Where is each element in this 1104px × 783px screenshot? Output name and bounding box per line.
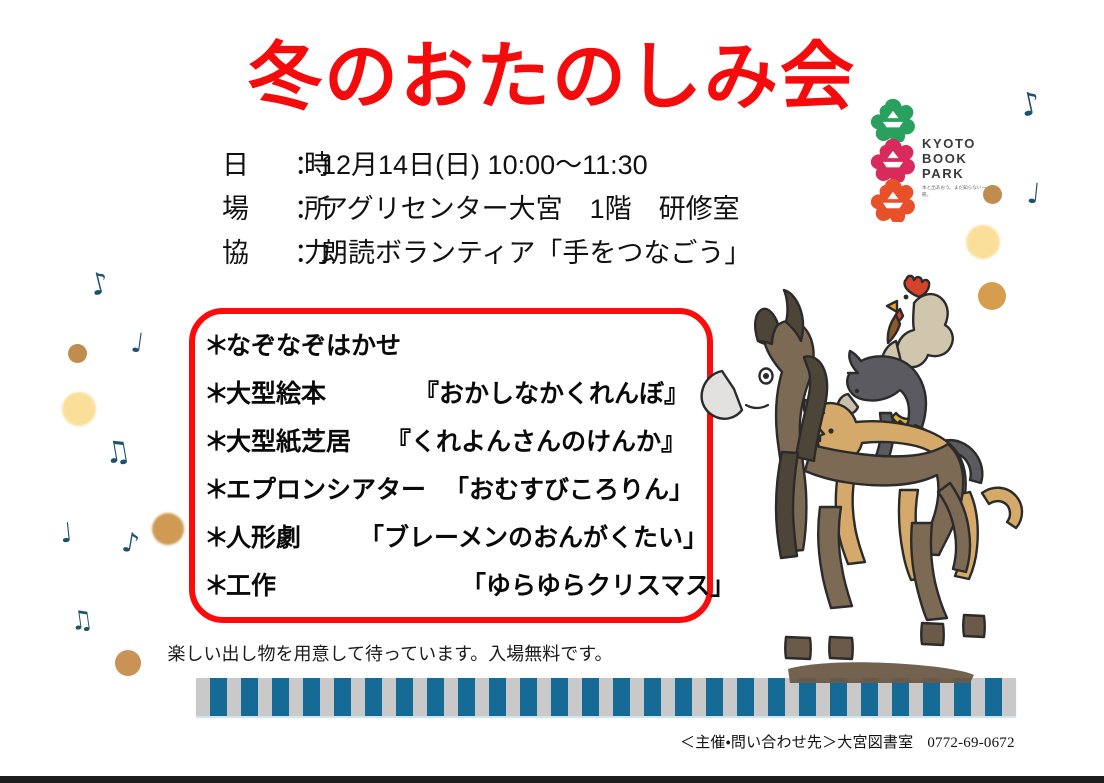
bullet-star-icon: ＊ [204, 562, 226, 610]
program-title: 『くれよんさんのけんか』 [386, 418, 686, 466]
info-label-cooperation: 協 力 [222, 231, 294, 275]
bullet-star-icon: ＊ [204, 466, 226, 514]
footnote-text: 楽しい出し物を用意して待っています。入場無料です。 [0, 640, 780, 666]
info-colon-place: ： [294, 187, 321, 231]
bremen-town-musicians-illustration [700, 245, 1090, 695]
contact-phone: 0772-69-0672 [927, 735, 1014, 751]
info-colon-cooperation: ： [294, 231, 321, 275]
poster-canvas: ♪♩♫♩♪♫♪♩ 冬のおたのしみ会 日 時：12月14日(日) 10:00〜11… [0, 0, 1104, 783]
list-item: ＊エプロンシアター「おむすびころりん」 [204, 466, 714, 514]
program-kind: 工作 [226, 562, 461, 610]
program-kind: 大型絵本 [226, 370, 414, 418]
logo-tagline: 本と出あおう。まだ知らない一冊。 [922, 184, 992, 198]
info-label-date: 日 時 [222, 143, 294, 187]
contact-organizer: ＜主催・問い合わせ先＞大宮図書室 [680, 734, 913, 751]
info-colon-date: ： [294, 143, 321, 187]
program-title: 「ゆらゆらクリスマス」 [461, 562, 735, 610]
info-label-place: 場 所 [222, 187, 294, 231]
program-title: 『おかしなかくれんぼ』 [414, 370, 689, 418]
logo-line-park: PARK [922, 166, 976, 181]
bullet-star-icon: ＊ [204, 322, 226, 370]
plum-blossom-icon [870, 98, 916, 142]
contact-line: ＜主催・問い合わせ先＞大宮図書室0772-69-0672 [680, 731, 1015, 752]
decorative-dot [152, 513, 184, 545]
program-kind: 大型紙芝居 [226, 418, 386, 466]
program-kind: 人形劇 [226, 514, 359, 562]
music-note-icon: ♫ [68, 607, 95, 636]
music-note-icon: ♩ [129, 329, 145, 358]
logo-line-book: BOOK [922, 151, 976, 166]
music-note-icon: ♫ [102, 436, 134, 470]
info-value-cooperation: 朗読ボランティア「手をつなごう」 [321, 231, 751, 275]
kyoto-book-park-logo: KYOTO BOOK PARK 本と出あおう。まだ知らない一冊。 [866, 98, 996, 223]
list-item: ＊工作「ゆらゆらクリスマス」 [204, 562, 714, 610]
bullet-star-icon: ＊ [204, 418, 226, 466]
program-kind: なぞなぞはかせ [226, 322, 401, 370]
music-note-icon: ♩ [59, 519, 75, 547]
info-value-place: アグリセンター大宮 1階 研修室 [321, 187, 740, 231]
decorative-dot [68, 344, 87, 363]
info-value-date: 12月14日(日) 10:00〜11:30 [321, 143, 648, 187]
music-note-icon: ♩ [1026, 179, 1042, 208]
logo-wordmark: KYOTO BOOK PARK [922, 136, 976, 181]
music-note-icon: ♪ [120, 529, 142, 559]
decorative-dot [62, 392, 96, 426]
program-title: 「ブレーメンのおんがくたい」 [359, 514, 708, 562]
list-item: ＊大型絵本『おかしなかくれんぼ』 [204, 370, 714, 418]
logo-line-kyoto: KYOTO [922, 136, 976, 151]
list-item: ＊大型紙芝居『くれよんさんのけんか』 [204, 418, 714, 466]
event-info-block: 日 時：12月14日(日) 10:00〜11:30 場 所：アグリセンター大宮 … [222, 143, 751, 275]
program-title: 「おむすびころりん」 [444, 466, 694, 514]
info-row-cooperation: 協 力：朗読ボランティア「手をつなごう」 [222, 231, 751, 275]
program-list: ＊なぞなぞはかせ ＊大型絵本『おかしなかくれんぼ』 ＊大型紙芝居『くれよんさんの… [204, 322, 714, 610]
info-row-place: 場 所：アグリセンター大宮 1階 研修室 [222, 187, 751, 231]
program-kind: エプロンシアター [226, 466, 444, 514]
list-item: ＊人形劇「ブレーメンのおんがくたい」 [204, 514, 714, 562]
plum-blossom-icon [870, 138, 916, 182]
bottom-edge-bar [0, 776, 1104, 783]
music-note-icon: ♪ [87, 268, 113, 302]
info-row-date: 日 時：12月14日(日) 10:00〜11:30 [222, 143, 751, 187]
bullet-star-icon: ＊ [204, 514, 226, 562]
bullet-star-icon: ＊ [204, 370, 226, 418]
list-item: ＊なぞなぞはかせ [204, 322, 714, 370]
plum-blossom-icon [870, 178, 916, 222]
